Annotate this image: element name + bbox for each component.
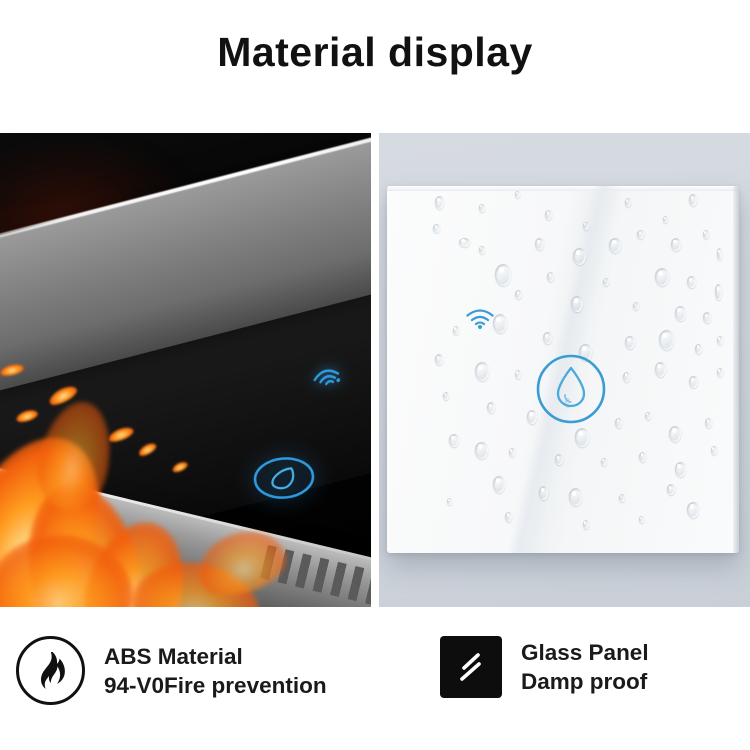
- water-droplet: [715, 284, 722, 300]
- water-droplet: [515, 191, 520, 198]
- water-droplet: [433, 224, 440, 233]
- water-droplet: [603, 278, 609, 286]
- water-droplet: [571, 296, 583, 312]
- water-droplet: [495, 264, 511, 286]
- water-drop-button-icon[interactable]: [250, 452, 318, 503]
- water-droplet: [515, 370, 521, 379]
- water-droplet: [545, 210, 552, 220]
- water-droplet: [575, 428, 589, 447]
- water-droplet: [493, 314, 507, 333]
- water-droplet: [711, 446, 717, 455]
- water-droplet: [675, 462, 686, 477]
- water-droplet: [615, 418, 622, 428]
- water-droplet: [623, 372, 630, 382]
- water-droplet: [637, 230, 644, 239]
- product-photo-white-panel: [379, 133, 750, 607]
- water-droplet: [675, 306, 686, 321]
- water-droplet: [689, 194, 697, 206]
- water-droplet: [535, 238, 544, 250]
- feature-line-1: ABS Material: [104, 644, 243, 669]
- water-droplet: [655, 268, 669, 286]
- water-droplet: [625, 198, 631, 207]
- water-droplet: [655, 362, 666, 377]
- water-droplet: [509, 448, 515, 457]
- water-droplet: [609, 238, 621, 253]
- water-droplet: [717, 336, 723, 345]
- water-droplet: [447, 498, 452, 505]
- water-droplet: [671, 238, 681, 251]
- water-droplet: [639, 452, 646, 462]
- water-droplet: [543, 332, 552, 344]
- water-droplet: [479, 246, 485, 254]
- feature-glass-panel: Glass Panel Damp proof: [440, 636, 649, 698]
- water-droplet: [547, 272, 554, 282]
- water-droplet: [569, 488, 582, 506]
- water-droplet: [695, 344, 702, 354]
- water-droplet: [459, 238, 470, 247]
- feature-label: Glass Panel Damp proof: [521, 638, 649, 696]
- water-droplet: [435, 196, 444, 209]
- water-droplet: [687, 276, 696, 288]
- water-droplet: [555, 454, 563, 465]
- water-droplet: [619, 494, 625, 502]
- water-droplet: [443, 392, 449, 400]
- water-droplet: [453, 326, 459, 335]
- water-droplet: [667, 484, 675, 495]
- water-droplet: [703, 230, 709, 239]
- product-image-row: [0, 133, 750, 607]
- glass-shine-icon: [440, 636, 502, 698]
- water-droplet: [687, 502, 699, 518]
- feature-line-2: 94-V0Fire prevention: [104, 671, 327, 700]
- water-droplet: [487, 402, 495, 413]
- water-droplet: [663, 216, 668, 223]
- water-droplet: [703, 312, 711, 323]
- water-droplet: [689, 376, 698, 388]
- feature-badges: ABS Material 94-V0Fire prevention Glass …: [0, 628, 750, 736]
- water-droplet: [475, 442, 488, 459]
- water-droplet: [539, 486, 548, 500]
- feature-abs-material: ABS Material 94-V0Fire prevention: [16, 636, 327, 705]
- water-drop-button-icon[interactable]: [533, 351, 609, 427]
- water-droplet: [583, 520, 589, 529]
- water-droplet: [705, 418, 712, 428]
- water-droplet: [435, 354, 443, 365]
- feature-line-2: Damp proof: [521, 667, 649, 696]
- water-droplet: [583, 222, 589, 230]
- water-droplet: [633, 302, 639, 310]
- white-glass-panel: [387, 186, 739, 553]
- feature-label: ABS Material 94-V0Fire prevention: [104, 642, 327, 700]
- water-droplet: [639, 516, 644, 523]
- product-photo-black-panel: [0, 133, 371, 607]
- water-droplet: [717, 368, 723, 377]
- water-droplet: [625, 336, 635, 349]
- water-droplet: [717, 248, 722, 260]
- water-droplet: [505, 512, 512, 522]
- water-droplet: [573, 248, 586, 265]
- water-droplet: [645, 412, 651, 420]
- page-title: Material display: [0, 26, 750, 78]
- water-droplet: [515, 290, 522, 299]
- water-droplet: [601, 458, 607, 466]
- flame-icon: [16, 636, 85, 705]
- water-droplet: [659, 330, 674, 350]
- wifi-icon: [465, 307, 495, 329]
- water-droplet: [479, 204, 485, 212]
- water-droplet: [669, 426, 681, 442]
- water-droplet: [449, 434, 459, 447]
- water-droplet: [475, 362, 489, 381]
- feature-line-1: Glass Panel: [521, 640, 649, 665]
- water-droplet: [493, 476, 505, 493]
